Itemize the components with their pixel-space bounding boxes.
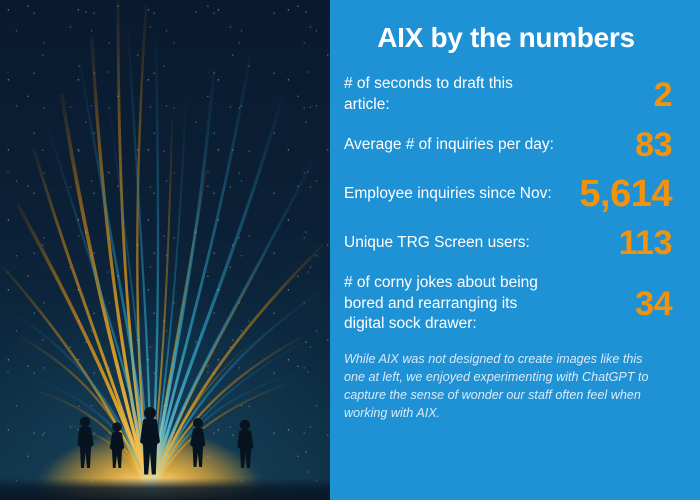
footnote-text: While AIX was not designed to create ima… [344,351,672,423]
stat-row: # of corny jokes about being bored and r… [344,273,672,335]
page-title: AIX by the numbers [344,22,672,54]
stat-row: Employee inquiries since Nov: 5,614 [344,175,672,213]
stat-row: # of seconds to draft this article: 2 [344,74,672,115]
people-silhouettes [0,380,330,500]
silhouette-person-2 [110,422,124,468]
stat-value: 2 [565,78,672,112]
silhouette-person-1 [77,417,93,468]
stat-label: Unique TRG Screen users: [344,233,530,254]
stats-panel: AIX by the numbers # of seconds to draft… [330,0,700,500]
artwork-image [0,0,330,500]
silhouette-person-3 [140,407,160,475]
stat-value: 83 [560,128,672,162]
stat-label: # of seconds to draft this article: [344,74,559,115]
stat-label: Average # of inquiries per day: [344,135,554,156]
silhouette-person-4 [190,418,205,467]
infographic-root: AIX by the numbers # of seconds to draft… [0,0,700,500]
stat-row: Unique TRG Screen users: 113 [344,226,672,260]
stat-label: # of corny jokes about being bored and r… [344,273,559,335]
stat-value: 113 [536,226,672,260]
stat-row: Average # of inquiries per day: 83 [344,128,672,162]
stats-list: # of seconds to draft this article: 2 Av… [344,74,672,335]
stat-value: 5,614 [558,175,672,213]
silhouette-person-5 [237,420,253,468]
stat-label: Employee inquiries since Nov: [344,184,552,205]
stat-value: 34 [565,287,672,321]
